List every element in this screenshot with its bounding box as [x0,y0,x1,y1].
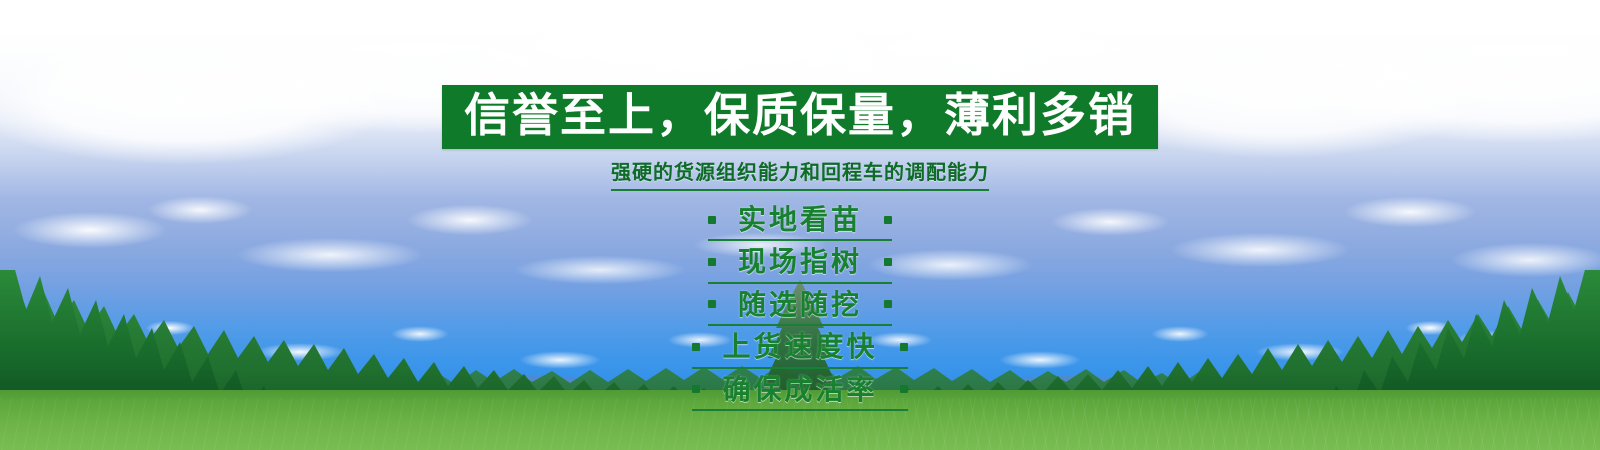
bullet-dot-icon [884,258,892,266]
bullet-dot-icon [692,385,700,393]
bullet-dot-icon [884,216,892,224]
feature-label: 上货速度快 [722,332,877,361]
bullet-dot-icon [884,300,892,308]
headline-slogan-bar: 信誉至上，保质保量，薄利多销 [442,85,1158,149]
feature-label: 现场指树 [738,247,862,276]
bullet-dot-icon [692,343,700,351]
feature-item: 随选随挖 [708,288,892,326]
feature-item: 上货速度快 [692,330,907,368]
feature-label: 随选随挖 [738,290,862,319]
bullet-dot-icon [708,216,716,224]
feature-list: 实地看苗 现场指树 随选随挖 上货速度快 确保成活率 [692,203,907,411]
feature-item: 实地看苗 [708,203,892,241]
bullet-dot-icon [900,385,908,393]
bullet-dot-icon [900,343,908,351]
bullet-dot-icon [708,300,716,308]
feature-item: 确保成活率 [692,373,907,411]
subtitle-capability: 强硬的货源组织能力和回程车的调配能力 [611,156,989,191]
nursery-promo-banner: 信誉至上，保质保量，薄利多销 强硬的货源组织能力和回程车的调配能力 实地看苗 现… [0,0,1600,450]
bullet-dot-icon [708,258,716,266]
feature-item: 现场指树 [708,245,892,283]
feature-label: 实地看苗 [738,205,862,234]
banner-content: 信誉至上，保质保量，薄利多销 强硬的货源组织能力和回程车的调配能力 实地看苗 现… [0,0,1600,450]
feature-label: 确保成活率 [722,375,877,404]
